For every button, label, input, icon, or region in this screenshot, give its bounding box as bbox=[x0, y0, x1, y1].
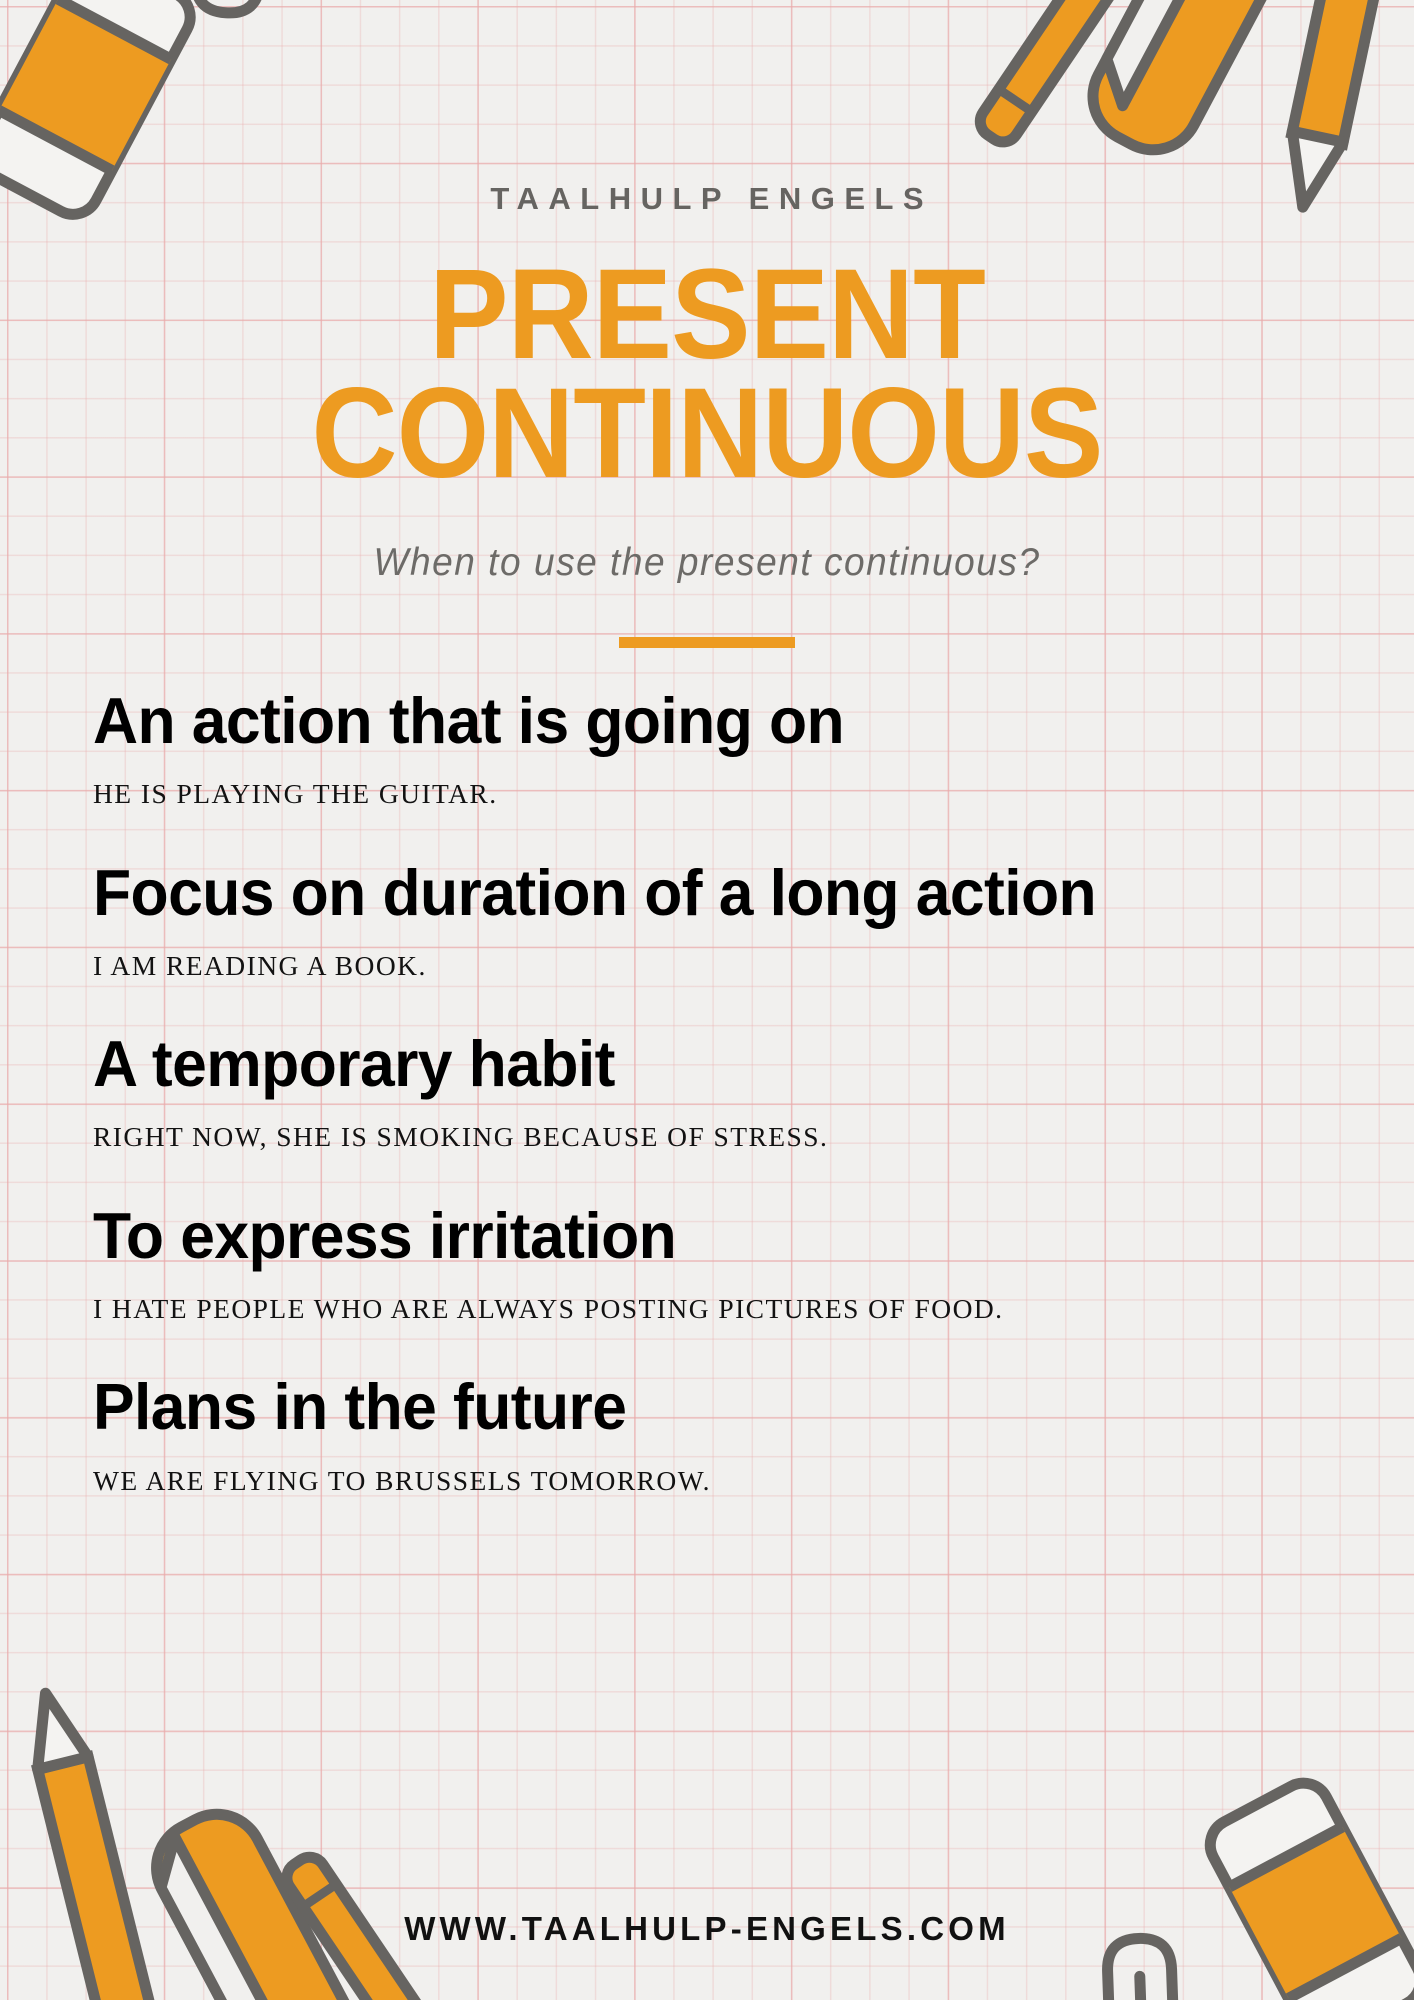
poster-header: TAALHULP ENGELS PRESENT CONTINUOUS When … bbox=[0, 0, 1414, 648]
poster-footer: WWW.TAALHULP-ENGELS.COM bbox=[0, 1910, 1414, 1948]
poster-page: TAALHULP ENGELS PRESENT CONTINUOUS When … bbox=[0, 0, 1414, 2000]
rule-title: Focus on duration of a long action bbox=[93, 860, 1281, 926]
divider-wrap bbox=[0, 585, 1414, 648]
decoration-bottom-right bbox=[1034, 1730, 1414, 2000]
rule-title: A temporary habit bbox=[93, 1031, 1281, 1097]
rule-example: WE ARE FLYING TO BRUSSELS TOMORROW. bbox=[93, 1441, 1330, 1496]
rule-example: I AM READING A BOOK. bbox=[93, 926, 1330, 981]
title-line-2: CONTINUOUS bbox=[312, 362, 1103, 505]
website-url: WWW.TAALHULP-ENGELS.COM bbox=[404, 1910, 1010, 1947]
list-item: Focus on duration of a long action I AM … bbox=[93, 810, 1330, 982]
page-subtitle: When to use the present continuous? bbox=[35, 493, 1378, 585]
list-item: Plans in the future WE ARE FLYING TO BRU… bbox=[93, 1324, 1330, 1496]
marker-icon bbox=[140, 1798, 381, 2000]
brand-eyebrow: TAALHULP ENGELS bbox=[0, 183, 1414, 214]
rule-title: To express irritation bbox=[93, 1203, 1281, 1269]
list-item: A temporary habit RIGHT NOW, SHE IS SMOK… bbox=[93, 981, 1330, 1153]
rule-example: HE IS PLAYING THE GUITAR. bbox=[93, 754, 1330, 809]
page-title: PRESENT CONTINUOUS bbox=[49, 214, 1364, 493]
accent-divider bbox=[619, 637, 795, 648]
rule-example: RIGHT NOW, SHE IS SMOKING BECAUSE OF STR… bbox=[93, 1097, 1330, 1152]
pencil-icon bbox=[20, 1687, 168, 2000]
usage-rules-list: An action that is going on HE IS PLAYING… bbox=[0, 648, 1414, 1496]
rule-example: I HATE PEOPLE WHO ARE ALWAYS POSTING PIC… bbox=[93, 1269, 1330, 1324]
eraser-icon bbox=[1201, 1774, 1414, 2000]
list-item: To express irritation I HATE PEOPLE WHO … bbox=[93, 1153, 1330, 1325]
rule-title: Plans in the future bbox=[93, 1374, 1281, 1440]
list-item: An action that is going on HE IS PLAYING… bbox=[93, 688, 1330, 810]
rule-title: An action that is going on bbox=[93, 688, 1281, 754]
